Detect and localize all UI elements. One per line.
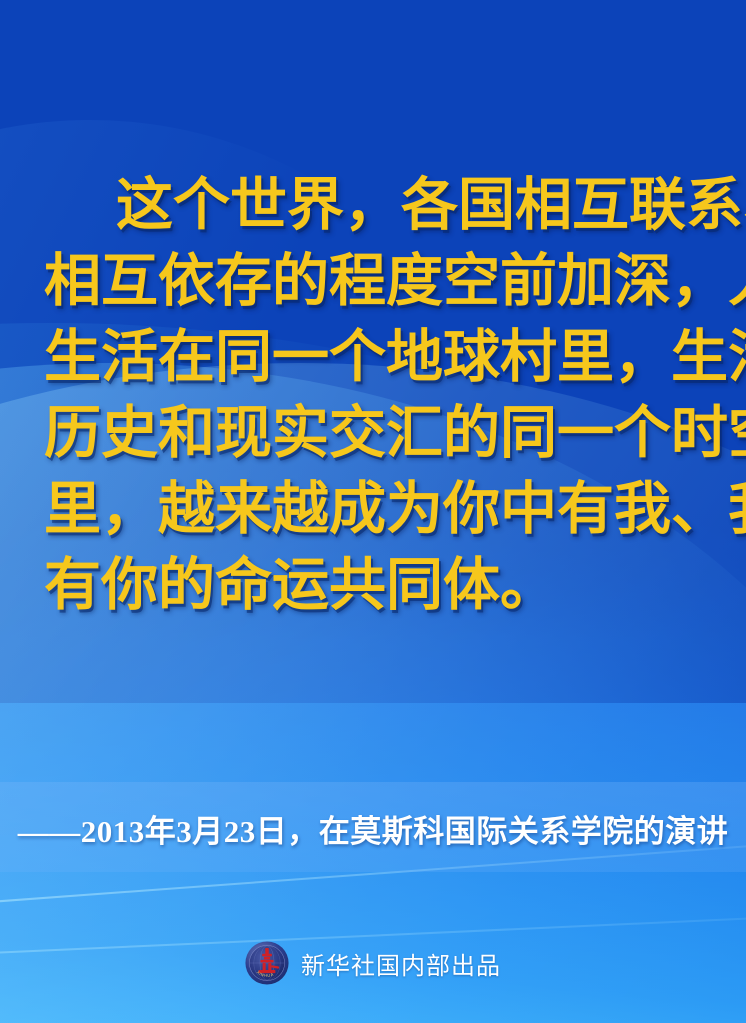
quote-line-3: 生活在同一个地球村里，生活在 bbox=[44, 320, 704, 396]
footer-label: 新华社国内部出品 bbox=[301, 946, 501, 981]
quote-block: 这个世界，各国相互联系、 相互依存的程度空前加深，人类 生活在同一个地球村里，生… bbox=[0, 168, 746, 624]
xinhua-emblem-icon: XINHUA bbox=[245, 941, 289, 985]
attribution-text: ——2013年3月23日，在莫斯科国际关系学院的演讲 bbox=[0, 806, 746, 851]
quote-line-2: 相互依存的程度空前加深，人类 bbox=[44, 244, 704, 320]
footer: XINHUA 新华社国内部出品 bbox=[0, 941, 746, 985]
quote-line-1: 这个世界，各国相互联系、 bbox=[44, 168, 704, 244]
poster-canvas: 这个世界，各国相互联系、 相互依存的程度空前加深，人类 生活在同一个地球村里，生… bbox=[0, 0, 746, 1023]
quote-line-6: 有你的命运共同体。 bbox=[44, 548, 704, 624]
quote-line-5: 里，越来越成为你中有我、我中 bbox=[44, 472, 704, 548]
quote-line-4: 历史和现实交汇的同一个时空 bbox=[44, 396, 704, 472]
